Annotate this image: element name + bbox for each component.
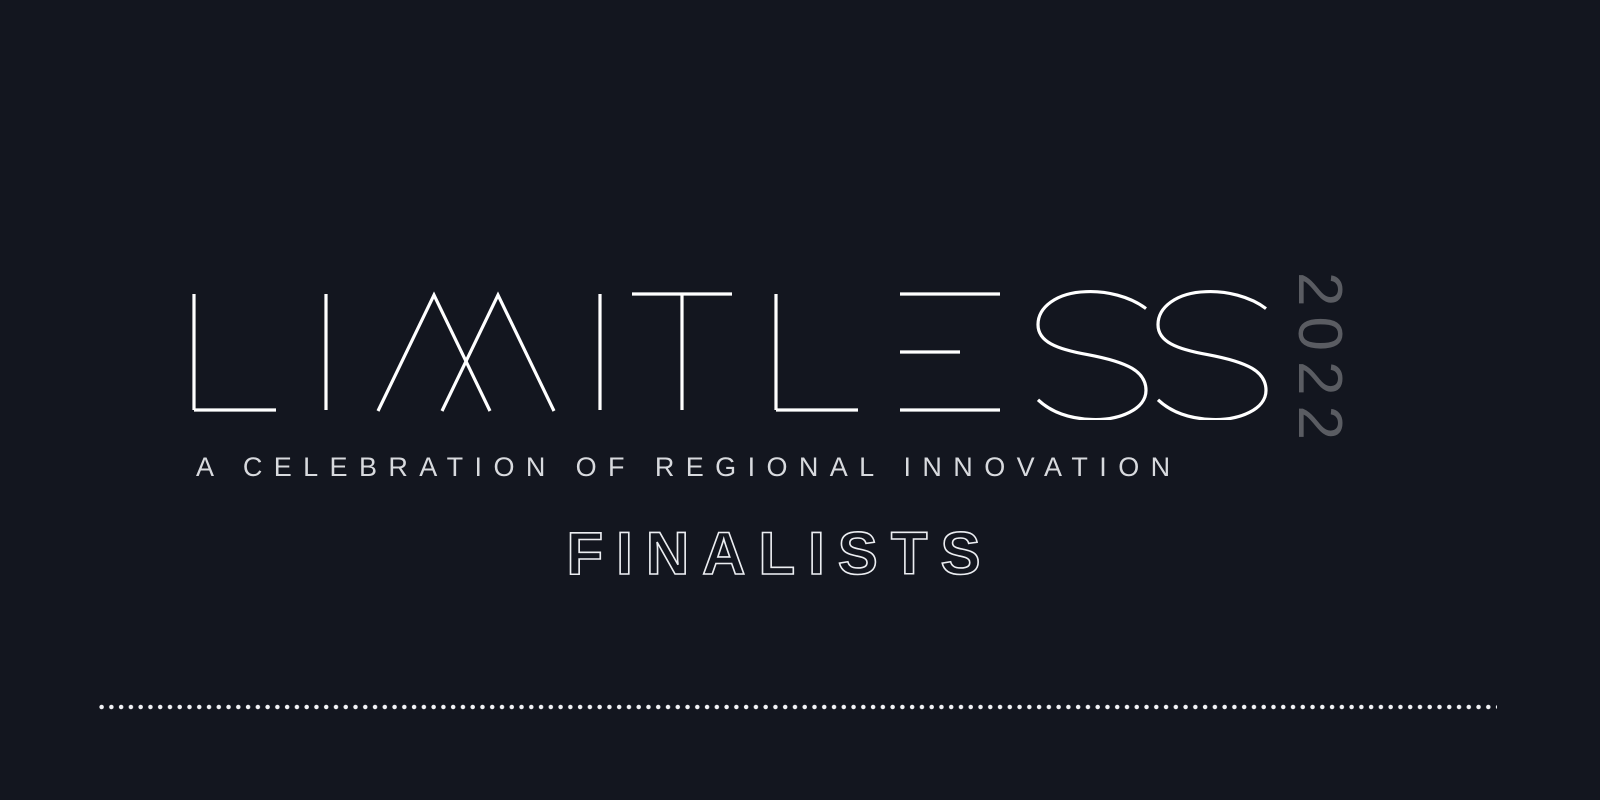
tagline: A CELEBRATION OF REGIONAL INNOVATION: [196, 450, 1268, 484]
letter-L-1: [194, 294, 276, 410]
letter-M: [378, 295, 554, 411]
year-label: 2022: [1284, 272, 1354, 492]
letter-L-2: [776, 294, 858, 410]
finalists-heading: FINALISTS: [0, 518, 1560, 590]
letter-E: [900, 294, 1000, 410]
letter-S-1: [1038, 292, 1146, 420]
title-card: 2022 A CELEBRATION OF REGIONAL INNOVATIO…: [0, 0, 1600, 800]
limitless-wordmark-svg: [190, 280, 1270, 420]
dotted-divider: [99, 704, 1497, 710]
letter-S-2: [1158, 292, 1266, 420]
letter-T: [632, 294, 732, 410]
brand-wordmark: [190, 280, 1270, 420]
